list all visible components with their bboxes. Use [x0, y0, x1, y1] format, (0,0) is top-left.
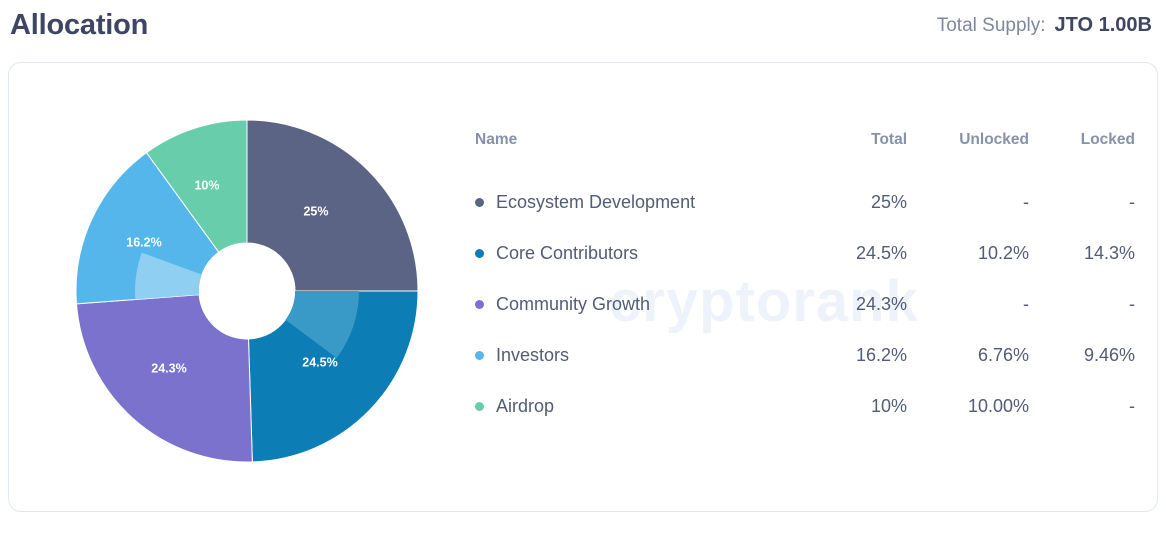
cell-locked: - — [1029, 177, 1135, 228]
allocation-name-label: Investors — [496, 345, 569, 366]
table-row[interactable]: Investors16.2%6.76%9.46% — [467, 330, 1135, 381]
cell-total: 24.5% — [785, 228, 907, 279]
donut-slice-label: 24.5% — [302, 355, 337, 369]
total-supply-label: Total Supply: — [937, 15, 1046, 37]
legend-dot-icon — [475, 198, 484, 207]
legend-dot-icon — [475, 402, 484, 411]
cell-total: 10% — [785, 381, 907, 432]
page-header: Allocation Total Supply: JTO 1.00B — [0, 0, 1166, 50]
cell-name: Community Growth — [467, 279, 785, 330]
page-title: Allocation — [10, 11, 148, 40]
legend-dot-icon — [475, 351, 484, 360]
table-row[interactable]: Ecosystem Development25%-- — [467, 177, 1135, 228]
cell-unlocked: 10.00% — [907, 381, 1029, 432]
cell-name: Core Contributors — [467, 228, 785, 279]
table-head: Name Total Unlocked Locked — [467, 131, 1135, 177]
legend-dot-icon — [475, 249, 484, 258]
legend-dot-icon — [475, 300, 484, 309]
donut-center-hole — [199, 243, 295, 339]
cell-name: Airdrop — [467, 381, 785, 432]
donut-chart-svg: 25%24.5%24.3%16.2%10% — [67, 111, 427, 471]
allocation-donut-chart: 25%24.5%24.3%16.2%10% — [67, 111, 427, 471]
donut-slice-label: 25% — [303, 204, 328, 218]
donut-slice-label: 24.3% — [151, 361, 186, 375]
column-header-unlocked[interactable]: Unlocked — [907, 131, 1029, 177]
cell-total: 16.2% — [785, 330, 907, 381]
cell-locked: - — [1029, 279, 1135, 330]
cell-unlocked: - — [907, 279, 1029, 330]
cell-unlocked: - — [907, 177, 1029, 228]
cell-unlocked: 10.2% — [907, 228, 1029, 279]
column-header-locked[interactable]: Locked — [1029, 131, 1135, 177]
allocation-table-wrapper: Name Total Unlocked Locked Ecosystem Dev… — [467, 131, 1127, 432]
cell-total: 24.3% — [785, 279, 907, 330]
cell-total: 25% — [785, 177, 907, 228]
allocation-name-label: Ecosystem Development — [496, 192, 695, 213]
column-header-total[interactable]: Total — [785, 131, 907, 177]
cell-unlocked: 6.76% — [907, 330, 1029, 381]
allocation-table: Name Total Unlocked Locked Ecosystem Dev… — [467, 131, 1135, 432]
allocation-name-label: Airdrop — [496, 396, 554, 417]
column-header-name[interactable]: Name — [467, 131, 785, 177]
donut-slice-label: 16.2% — [126, 235, 161, 249]
allocation-card: cryptorank 25%24.5%24.3%16.2%10% Name To… — [8, 62, 1158, 512]
allocation-name-label: Core Contributors — [496, 243, 638, 264]
table-row[interactable]: Core Contributors24.5%10.2%14.3% — [467, 228, 1135, 279]
table-row[interactable]: Airdrop10%10.00%- — [467, 381, 1135, 432]
cell-locked: - — [1029, 381, 1135, 432]
allocation-name-label: Community Growth — [496, 294, 650, 315]
cell-locked: 9.46% — [1029, 330, 1135, 381]
donut-slice-label: 10% — [194, 178, 219, 192]
table-row[interactable]: Community Growth24.3%-- — [467, 279, 1135, 330]
total-supply: Total Supply: JTO 1.00B — [937, 14, 1152, 37]
cell-locked: 14.3% — [1029, 228, 1135, 279]
table-header-row: Name Total Unlocked Locked — [467, 131, 1135, 177]
table-body: Ecosystem Development25%--Core Contribut… — [467, 177, 1135, 432]
cell-name: Investors — [467, 330, 785, 381]
total-supply-value: JTO 1.00B — [1055, 14, 1152, 37]
cell-name: Ecosystem Development — [467, 177, 785, 228]
